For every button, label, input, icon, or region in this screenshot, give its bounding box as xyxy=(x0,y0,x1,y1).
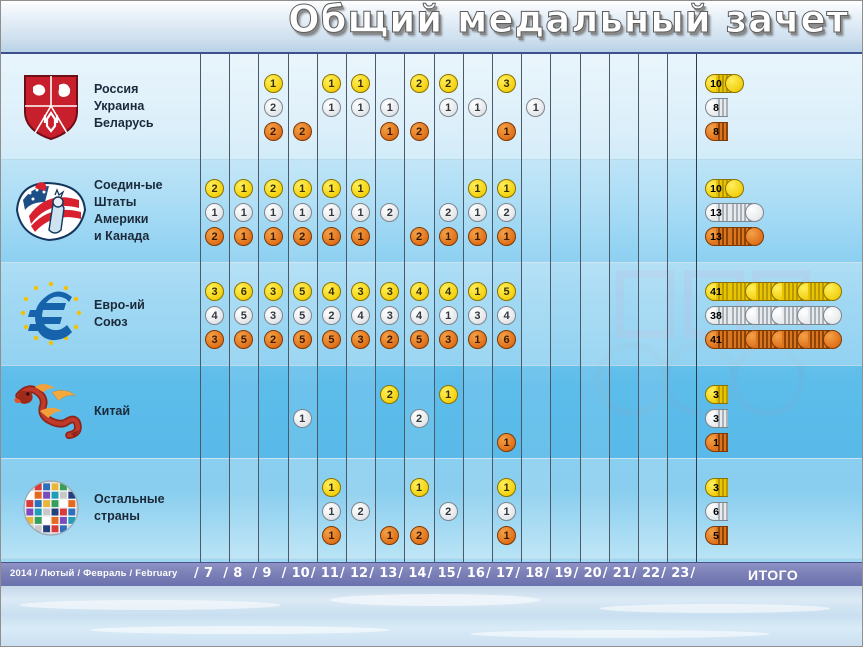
silver-medal-count: 4 xyxy=(205,306,224,325)
silver-medal-count: 1 xyxy=(322,203,341,222)
footer-date-separator: / xyxy=(398,566,403,581)
total-bronze-value: 13 xyxy=(705,227,727,246)
silver-medal-count: 1 xyxy=(497,502,516,521)
country-label-3[interactable]: Евро-ийСоюз xyxy=(0,262,200,365)
infographic-page: Общий медальный зачет РоссияУкраинаБелар… xyxy=(0,0,863,647)
bronze-medal-count: 3 xyxy=(205,330,224,349)
total-bronze-stack: 5 xyxy=(705,526,728,545)
sea-illustration xyxy=(0,586,863,647)
gold-medal-count: 1 xyxy=(468,179,487,198)
footer-date-11[interactable]: 11 xyxy=(321,566,339,581)
wave-shape xyxy=(600,604,830,613)
country-name-line: Союз xyxy=(94,314,145,331)
silver-medal-count: 4 xyxy=(497,306,516,325)
bronze-medal-count: 2 xyxy=(264,122,283,141)
bronze-medal-count: 1 xyxy=(439,227,458,246)
bronze-medal-count: 5 xyxy=(322,330,341,349)
grid-column-19[interactable] xyxy=(550,54,579,562)
footer-date-separator: / xyxy=(194,566,199,581)
bronze-medal-count: 1 xyxy=(497,526,516,545)
bronze-medal-count: 1 xyxy=(322,526,341,545)
total-silver-stack: 6 xyxy=(705,502,728,521)
bronze-medal-count: 2 xyxy=(205,227,224,246)
gold-medal-count: 4 xyxy=(410,282,429,301)
country-name: Остальныестраны xyxy=(94,491,165,525)
total-gold-value: 41 xyxy=(705,282,727,301)
gold-medal-count: 1 xyxy=(322,179,341,198)
bronze-medal-count: 2 xyxy=(410,526,429,545)
footer-date-separator: / xyxy=(428,566,433,581)
footer-date-separator: / xyxy=(515,566,520,581)
footer-date-separator: / xyxy=(661,566,666,581)
footer-date-8[interactable]: 8 xyxy=(233,566,242,581)
total-silver-stack: 8 xyxy=(705,98,728,117)
footer-date-18[interactable]: 18 xyxy=(525,566,543,581)
silver-medal-count: 1 xyxy=(264,203,283,222)
bronze-medal-count: 2 xyxy=(264,330,283,349)
country-name-line: Украина xyxy=(94,98,154,115)
gold-medal-count: 1 xyxy=(293,179,312,198)
bronze-medal-count: 1 xyxy=(497,122,516,141)
bronze-medal-count: 1 xyxy=(351,227,370,246)
silver-medal-count: 2 xyxy=(322,306,341,325)
bronze-medal-count: 3 xyxy=(351,330,370,349)
total-silver-value: 3 xyxy=(705,409,727,428)
bronze-medal-count: 6 xyxy=(497,330,516,349)
total-silver-stack: 38 xyxy=(705,306,842,325)
total-disc xyxy=(725,179,744,198)
wave-shape xyxy=(470,630,770,638)
bronze-medal-count: 1 xyxy=(468,330,487,349)
gold-medal-count: 1 xyxy=(351,74,370,93)
gold-medal-count: 5 xyxy=(293,282,312,301)
country-name-line: Китай xyxy=(94,403,130,420)
total-gold-stack: 41 xyxy=(705,282,842,301)
country-label-1[interactable]: РоссияУкраинаБеларусь xyxy=(0,54,200,159)
footer-date-22[interactable]: 22 xyxy=(642,566,660,581)
gold-medal-count: 2 xyxy=(439,74,458,93)
total-bronze-value: 8 xyxy=(705,122,727,141)
footer-date-23[interactable]: 23 xyxy=(671,566,689,581)
country-name-line: страны xyxy=(94,508,165,525)
page-title: Общий медальный зачет xyxy=(288,0,849,41)
country-label-2[interactable]: Соедин-ыеШтатыАмерикии Канада xyxy=(0,159,200,262)
total-silver-stack: 13 xyxy=(705,203,764,222)
gold-medal-count: 1 xyxy=(497,478,516,497)
silver-medal-count: 2 xyxy=(410,409,429,428)
country-name-line: Евро-ий xyxy=(94,297,145,314)
header-bar: Общий медальный зачет xyxy=(0,0,863,54)
total-silver-value: 13 xyxy=(705,203,727,222)
bronze-medal-count: 3 xyxy=(439,330,458,349)
footer-date-21[interactable]: 21 xyxy=(613,566,631,581)
silver-medal-count: 2 xyxy=(351,502,370,521)
total-disc xyxy=(823,330,842,349)
silver-medal-count: 1 xyxy=(468,203,487,222)
bronze-medal-count: 1 xyxy=(468,227,487,246)
wave-shape xyxy=(90,626,390,634)
shield-red-icon xyxy=(14,73,88,141)
wave-shape xyxy=(330,594,540,606)
footer-date-20[interactable]: 20 xyxy=(584,566,602,581)
bronze-medal-count: 5 xyxy=(293,330,312,349)
wave-shape xyxy=(20,600,280,610)
total-gold-value: 10 xyxy=(705,179,727,198)
total-gold-stack: 3 xyxy=(705,478,728,497)
total-bronze-value: 5 xyxy=(705,526,727,545)
silver-medal-count: 3 xyxy=(468,306,487,325)
grid-column-20[interactable] xyxy=(580,54,609,562)
footer-date-separator: / xyxy=(544,566,549,581)
total-silver-value: 38 xyxy=(705,306,727,325)
medal-board: РоссияУкраинаБеларусь Соедин-ыеШтатыАмер… xyxy=(0,54,863,562)
footer-date-separator: / xyxy=(282,566,287,581)
silver-medal-count: 4 xyxy=(410,306,429,325)
gold-medal-count: 4 xyxy=(439,282,458,301)
country-name-line: Штаты xyxy=(94,194,163,211)
silver-medal-count: 1 xyxy=(293,409,312,428)
grid-column-22[interactable] xyxy=(638,54,667,562)
silver-medal-count: 1 xyxy=(322,502,341,521)
gold-medal-count: 1 xyxy=(439,385,458,404)
footer-date-separator: / xyxy=(486,566,491,581)
grid-column-21[interactable] xyxy=(609,54,638,562)
footer-date-separator: / xyxy=(574,566,579,581)
silver-medal-count: 2 xyxy=(439,502,458,521)
bronze-medal-count: 2 xyxy=(293,122,312,141)
gold-medal-count: 2 xyxy=(410,74,429,93)
gold-medal-count: 1 xyxy=(410,478,429,497)
country-name-line: Беларусь xyxy=(94,115,154,132)
country-name-line: Россия xyxy=(94,81,154,98)
total-bronze-stack: 8 xyxy=(705,122,728,141)
footer-date-15[interactable]: 15 xyxy=(438,566,456,581)
total-gold-stack: 10 xyxy=(705,74,744,93)
footer-date-13[interactable]: 13 xyxy=(379,566,397,581)
silver-medal-count: 1 xyxy=(293,203,312,222)
gold-medal-count: 5 xyxy=(497,282,516,301)
total-silver-stack: 3 xyxy=(705,409,728,428)
bronze-medal-count: 1 xyxy=(497,227,516,246)
gold-medal-count: 3 xyxy=(205,282,224,301)
total-silver-value: 8 xyxy=(705,98,727,117)
silver-medal-count: 1 xyxy=(205,203,224,222)
total-bronze-stack: 13 xyxy=(705,227,764,246)
footer-total-label: ИТОГО xyxy=(748,567,798,583)
total-gold-stack: 10 xyxy=(705,179,744,198)
bronze-medal-count: 1 xyxy=(497,433,516,452)
total-gold-value: 3 xyxy=(705,385,727,404)
total-bronze-stack: 41 xyxy=(705,330,842,349)
total-disc xyxy=(725,74,744,93)
silver-medal-count: 1 xyxy=(439,306,458,325)
footer-date-separator: / xyxy=(311,566,316,581)
footer-date-separator: / xyxy=(223,566,228,581)
footer-date-16[interactable]: 16 xyxy=(467,566,485,581)
country-name: Китай xyxy=(94,403,130,420)
gold-medal-count: 1 xyxy=(497,179,516,198)
silver-medal-count: 1 xyxy=(322,98,341,117)
country-label-4[interactable]: Китай xyxy=(0,365,200,458)
footer-bar: 2014 / Лютый / Февраль / February /7/8/9… xyxy=(0,562,863,588)
total-gold-value: 10 xyxy=(705,74,727,93)
silver-medal-count: 1 xyxy=(351,98,370,117)
gold-medal-count: 1 xyxy=(264,74,283,93)
gold-medal-count: 1 xyxy=(468,282,487,301)
footer-date-separator: / xyxy=(603,566,608,581)
total-disc xyxy=(745,203,764,222)
total-bronze-value: 1 xyxy=(705,433,727,452)
gold-medal-count: 4 xyxy=(322,282,341,301)
gold-medal-count: 2 xyxy=(264,179,283,198)
euro-symbol-icon xyxy=(14,279,88,349)
silver-medal-count: 2 xyxy=(439,203,458,222)
footer-date-10[interactable]: 10 xyxy=(292,566,310,581)
country-name-line: и Канада xyxy=(94,228,163,245)
bronze-medal-count: 1 xyxy=(264,227,283,246)
silver-medal-count: 4 xyxy=(351,306,370,325)
flag-globe-icon xyxy=(14,477,88,539)
footer-date-14[interactable]: 14 xyxy=(408,566,426,581)
totals-column: 1088101313413841331365 xyxy=(697,54,863,562)
silver-medal-count: 1 xyxy=(439,98,458,117)
gold-medal-count: 3 xyxy=(264,282,283,301)
country-name-line: Остальные xyxy=(94,491,165,508)
gold-medal-count: 1 xyxy=(351,179,370,198)
statue-of-liberty-icon xyxy=(14,180,88,242)
country-name: Евро-ийСоюз xyxy=(94,297,145,331)
gold-medal-count: 3 xyxy=(351,282,370,301)
footer-month-label: 2014 / Лютый / Февраль / February xyxy=(10,568,177,579)
footer-date-12[interactable]: 12 xyxy=(350,566,368,581)
silver-medal-count: 1 xyxy=(351,203,370,222)
bronze-medal-count: 2 xyxy=(293,227,312,246)
gold-medal-count: 3 xyxy=(497,74,516,93)
country-label-5[interactable]: Остальныестраны xyxy=(0,458,200,558)
total-disc xyxy=(823,282,842,301)
silver-medal-count: 3 xyxy=(264,306,283,325)
dragon-icon xyxy=(14,377,88,447)
grid-column-18[interactable] xyxy=(521,54,550,562)
country-name-line: Америки xyxy=(94,211,163,228)
footer-date-19[interactable]: 19 xyxy=(554,566,572,581)
total-gold-value: 3 xyxy=(705,478,727,497)
footer-date-separator: / xyxy=(632,566,637,581)
grid-column-23[interactable] xyxy=(667,54,696,562)
footer-date-separator: / xyxy=(340,566,345,581)
bronze-medal-count: 1 xyxy=(322,227,341,246)
total-disc xyxy=(823,306,842,325)
gold-medal-count: 1 xyxy=(322,478,341,497)
bronze-medal-count: 5 xyxy=(410,330,429,349)
silver-medal-count: 5 xyxy=(293,306,312,325)
total-bronze-stack: 1 xyxy=(705,433,728,452)
silver-medal-count: 1 xyxy=(468,98,487,117)
bronze-medal-count: 2 xyxy=(410,227,429,246)
total-disc xyxy=(745,227,764,246)
total-silver-value: 6 xyxy=(705,502,727,521)
silver-medal-count: 2 xyxy=(497,203,516,222)
total-bronze-value: 41 xyxy=(705,330,727,349)
gold-medal-count: 2 xyxy=(205,179,224,198)
country-name: Соедин-ыеШтатыАмерикии Канада xyxy=(94,177,163,245)
gold-medal-count: 1 xyxy=(322,74,341,93)
footer-date-separator: / xyxy=(690,566,695,581)
footer-date-7[interactable]: 7 xyxy=(204,566,213,581)
bronze-medal-count: 2 xyxy=(410,122,429,141)
footer-date-9[interactable]: 9 xyxy=(262,566,271,581)
total-gold-stack: 3 xyxy=(705,385,728,404)
country-name: РоссияУкраинаБеларусь xyxy=(94,81,154,132)
country-name-line: Соедин-ые xyxy=(94,177,163,194)
silver-medal-count: 2 xyxy=(264,98,283,117)
footer-date-separator: / xyxy=(369,566,374,581)
footer-date-separator: / xyxy=(252,566,257,581)
footer-date-separator: / xyxy=(457,566,462,581)
footer-date-17[interactable]: 17 xyxy=(496,566,514,581)
